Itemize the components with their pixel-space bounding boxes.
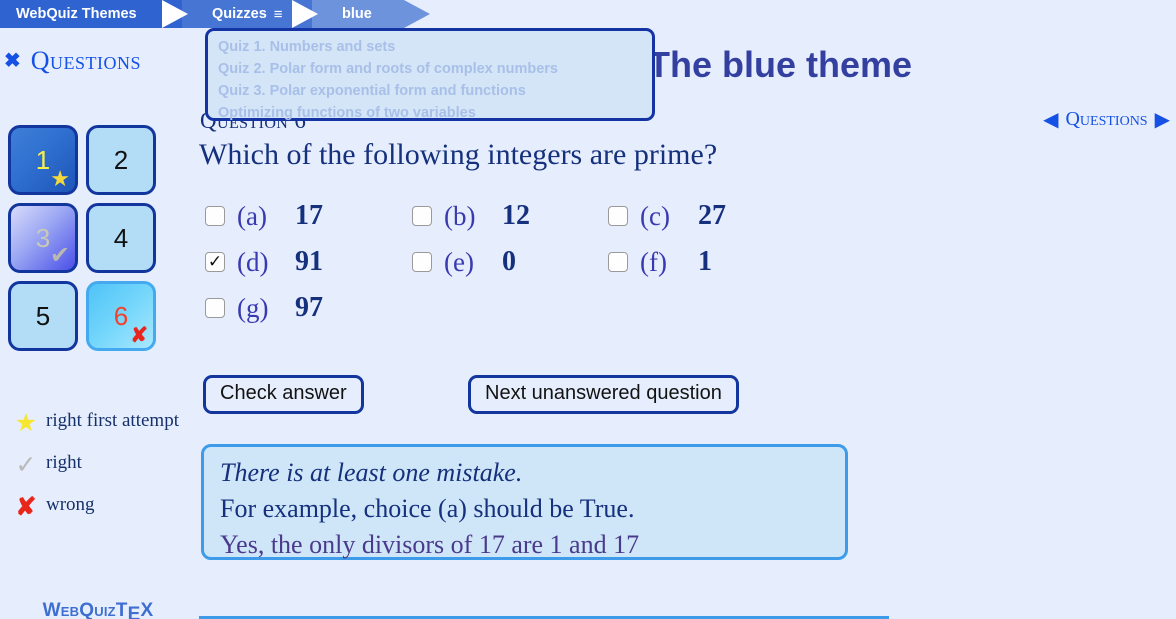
sidebar-footer: WebQuizTEX © Copyright 2004-2019 — [0, 600, 196, 619]
question-button-row: 1 ★ 2 — [8, 125, 168, 203]
choice-g-key: (g) — [237, 293, 295, 324]
breadcrumb-webquiz-themes-label: WebQuiz Themes — [16, 6, 137, 22]
check-icon: ✓ — [208, 252, 222, 272]
question-button-3[interactable]: 3 ✔ — [8, 203, 78, 273]
question-nav-label[interactable]: Questions — [1065, 108, 1147, 131]
check-icon: ✓ — [6, 452, 46, 478]
choice-b-key: (b) — [444, 201, 502, 232]
sidebar-header[interactable]: ✖ Questions — [4, 46, 141, 76]
choice-a-key: (a) — [237, 201, 295, 232]
question-button-1-number: 1 — [36, 145, 50, 176]
star-icon: ★ — [6, 410, 46, 436]
choice-f-checkbox[interactable] — [608, 252, 628, 272]
logo-e: E — [128, 604, 141, 619]
feedback-box: There is at least one mistake. For examp… — [201, 444, 848, 560]
question-button-2-number: 2 — [114, 145, 128, 176]
logo-x: X — [140, 600, 153, 619]
hamburger-menu-icon[interactable]: ≡ — [274, 6, 283, 23]
breadcrumb-webquiz-themes[interactable]: WebQuiz Themes — [0, 0, 182, 28]
dropdown-item-quiz-3[interactable]: Quiz 3. Polar exponential form and funct… — [218, 80, 652, 102]
breadcrumb-arrow-3 — [404, 0, 430, 28]
question-button-5[interactable]: 5 — [8, 281, 78, 351]
question-button-4-number: 4 — [114, 223, 128, 254]
dropdown-item-quiz-1[interactable]: Quiz 1. Numbers and sets — [218, 36, 652, 58]
dropdown-item-quiz-2[interactable]: Quiz 2. Polar form and roots of complex … — [218, 58, 652, 80]
cross-icon: ✘ — [6, 494, 46, 520]
question-button-grid: 1 ★ 2 3 ✔ 4 5 — [8, 125, 168, 359]
question-button-1[interactable]: 1 ★ — [8, 125, 78, 195]
choice-e[interactable]: (e) 0 — [412, 246, 516, 278]
question-nav: ◀ Questions ▶ — [1043, 108, 1170, 131]
sidebar-header-label: Questions — [31, 46, 141, 76]
feedback-line-2: For example, choice (a) should be True. — [220, 491, 845, 527]
questions-sidebar: ✖ Questions 1 ★ 2 3 ✔ 4 — [0, 40, 196, 619]
question-button-4[interactable]: 4 — [86, 203, 156, 273]
breadcrumb-quizzes-label: Quizzes — [212, 6, 267, 22]
breadcrumb-blue[interactable]: blue — [312, 0, 404, 28]
choice-e-key: (e) — [444, 247, 502, 278]
choice-b-value: 12 — [502, 200, 530, 232]
logo-webquiz: WebQuiz — [43, 600, 116, 619]
choice-d-checkbox[interactable]: ✓ — [205, 252, 225, 272]
choice-g-checkbox[interactable] — [205, 298, 225, 318]
check-answer-button[interactable]: Check answer — [203, 375, 364, 414]
legend-label-wrong: wrong — [46, 494, 95, 516]
choice-c[interactable]: (c) 27 — [608, 200, 726, 232]
choice-d-value: 91 — [295, 246, 323, 278]
question-button-3-number: 3 — [36, 223, 50, 254]
next-question-arrow-icon[interactable]: ▶ — [1155, 110, 1170, 130]
close-icon[interactable]: ✖ — [4, 51, 21, 71]
choice-a[interactable]: (a) 17 — [205, 200, 323, 232]
check-icon: ✔ — [50, 244, 70, 268]
choice-e-checkbox[interactable] — [412, 252, 432, 272]
choice-d[interactable]: ✓ (d) 91 — [205, 246, 323, 278]
quizzes-dropdown-menu[interactable]: Quiz 1. Numbers and sets Quiz 2. Polar f… — [205, 28, 655, 121]
choice-a-value: 17 — [295, 200, 323, 232]
choice-f-key: (f) — [640, 247, 698, 278]
question-button-6[interactable]: 6 ✘ — [86, 281, 156, 351]
legend-item-right: ✓ right — [6, 452, 191, 478]
question-button-row: 5 6 ✘ — [8, 281, 168, 359]
choice-f-value: 1 — [698, 246, 712, 278]
next-unanswered-question-button[interactable]: Next unanswered question — [468, 375, 739, 414]
cross-icon: ✘ — [130, 325, 148, 346]
feedback-line-1: There is at least one mistake. — [220, 455, 845, 491]
legend-label-right: right — [46, 452, 82, 474]
breadcrumb-separator-2 — [292, 0, 318, 28]
question-button-2[interactable]: 2 — [86, 125, 156, 195]
choice-c-checkbox[interactable] — [608, 206, 628, 226]
webquiztex-logo: WebQuizTEX — [0, 600, 196, 619]
status-legend: ★ right first attempt ✓ right ✘ wrong — [6, 410, 191, 536]
choice-c-value: 27 — [698, 200, 726, 232]
page-title: The blue theme — [648, 44, 912, 86]
logo-t: T — [116, 600, 128, 619]
page-root: WebQuiz Themes Quizzes ≡ blue The blue t… — [0, 0, 1176, 619]
question-button-row: 3 ✔ 4 — [8, 203, 168, 281]
question-text: Which of the following integers are prim… — [199, 138, 717, 172]
choice-g[interactable]: (g) 97 — [205, 292, 323, 324]
choice-e-value: 0 — [502, 246, 516, 278]
choice-g-value: 97 — [295, 292, 323, 324]
question-button-5-number: 5 — [36, 301, 50, 332]
choice-b-checkbox[interactable] — [412, 206, 432, 226]
choice-b[interactable]: (b) 12 — [412, 200, 530, 232]
feedback-line-3: Yes, the only divisors of 17 are 1 and 1… — [220, 527, 845, 563]
legend-label-right-first-attempt: right first attempt — [46, 410, 179, 432]
star-icon: ★ — [50, 168, 70, 190]
legend-item-right-first-attempt: ★ right first attempt — [6, 410, 191, 436]
legend-item-wrong: ✘ wrong — [6, 494, 191, 520]
breadcrumb-blue-label: blue — [342, 6, 372, 22]
prev-question-arrow-icon[interactable]: ◀ — [1043, 110, 1058, 130]
question-button-6-number: 6 — [114, 301, 128, 332]
choice-d-key: (d) — [237, 247, 295, 278]
choice-c-key: (c) — [640, 201, 698, 232]
choice-f[interactable]: (f) 1 — [608, 246, 712, 278]
breadcrumb-navbar: WebQuiz Themes Quizzes ≡ blue — [0, 0, 1176, 28]
choice-a-checkbox[interactable] — [205, 206, 225, 226]
dropdown-item-optimizing[interactable]: Optimizing functions of two variables — [218, 102, 652, 124]
breadcrumb-separator-1 — [162, 0, 188, 28]
